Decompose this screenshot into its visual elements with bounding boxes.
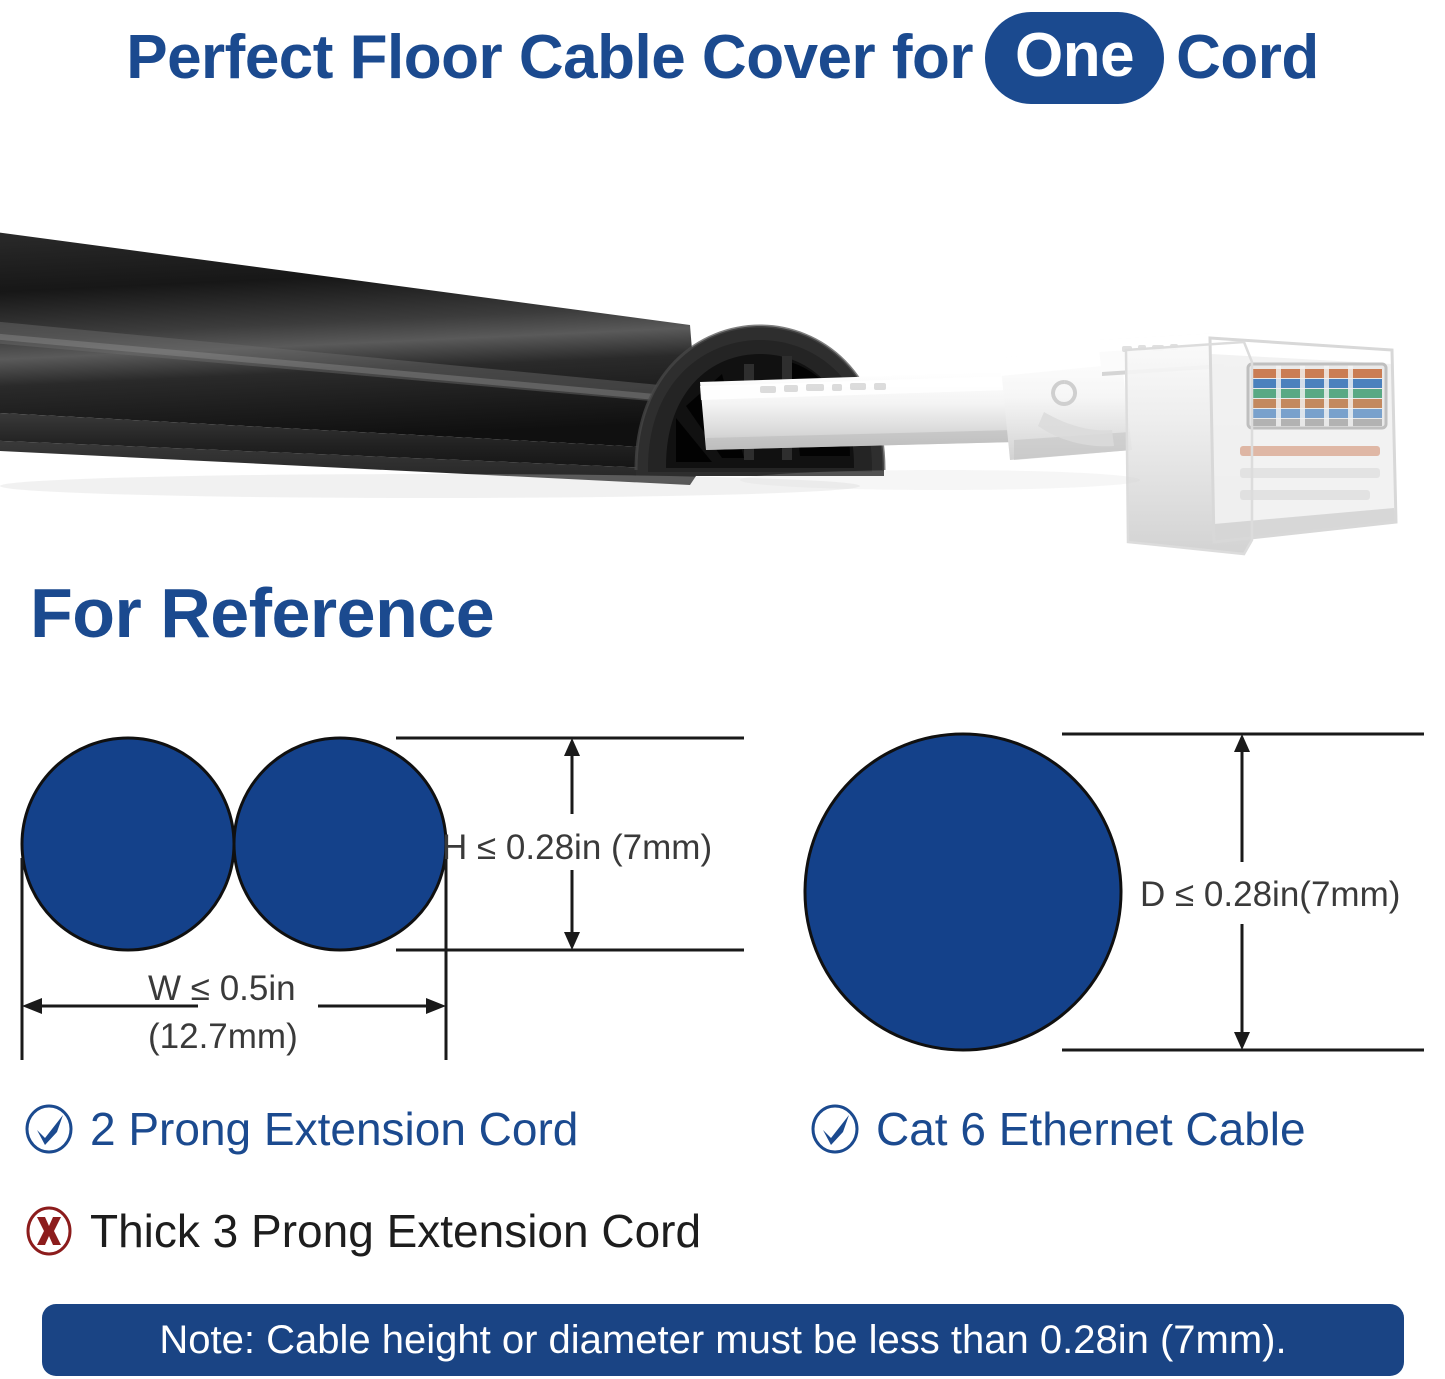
x-circle-icon (24, 1206, 74, 1256)
width-dimension-label-line1: W ≤ 0.5in (148, 970, 296, 1008)
diameter-dimension-label: D ≤ 0.28in(7mm) (1140, 875, 1400, 915)
page-header: Perfect Floor Cable Cover for One Cord (0, 0, 1445, 115)
check-circle-icon (810, 1104, 860, 1154)
rj45-connector (1126, 338, 1396, 554)
product-photo (0, 150, 1445, 570)
header-text-after: Cord (1176, 27, 1319, 89)
ethernet-cable (700, 372, 1016, 450)
cable-cover-body (0, 230, 700, 485)
section-heading: For Reference (30, 578, 494, 648)
double-circle-shape (22, 738, 446, 950)
height-dimension-label: H ≤ 0.28in (7mm) (442, 828, 712, 868)
one-pill-label: One (1015, 25, 1134, 87)
reference-diagrams: H ≤ 0.28in (7mm) W ≤ 0.5in (12.7mm) D ≤ … (0, 710, 1445, 1090)
one-highlight-pill: One (985, 12, 1164, 104)
list-item-thick-three-prong-cord: Thick 3 Prong Extension Cord (24, 1206, 701, 1256)
width-dimension-label-line2: (12.7mm) (148, 1018, 298, 1056)
list-item-two-prong-cord: 2 Prong Extension Cord (24, 1104, 578, 1154)
list-item-cat6-ethernet-cable: Cat 6 Ethernet Cable (810, 1104, 1306, 1154)
list-item-label: Thick 3 Prong Extension Cord (90, 1208, 701, 1254)
header-text-before: Perfect Floor Cable Cover for (126, 27, 973, 89)
product-photo-illustration (0, 150, 1445, 570)
list-item-label: 2 Prong Extension Cord (90, 1106, 578, 1152)
note-label: Note: Cable height or diameter must be l… (159, 1320, 1286, 1360)
check-circle-icon (24, 1104, 74, 1154)
list-item-label: Cat 6 Ethernet Cable (876, 1106, 1306, 1152)
rj45-wire-pairs (1248, 364, 1386, 428)
two-prong-cord-diagram (0, 710, 760, 1090)
circle-shape (805, 734, 1121, 1050)
note-banner: Note: Cable height or diameter must be l… (42, 1304, 1404, 1376)
